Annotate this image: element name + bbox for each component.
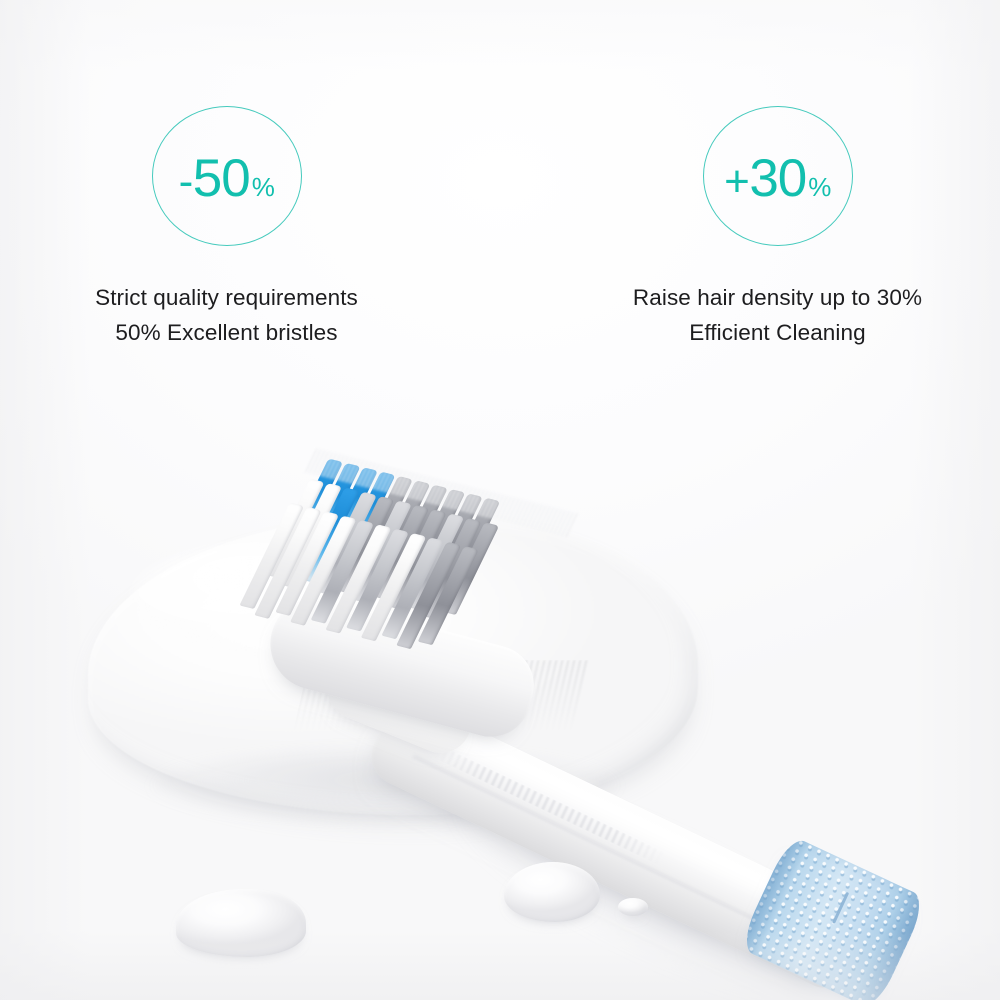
bristle-tuft <box>409 489 465 578</box>
stat-caption-hair-density: Raise hair density up to 30% Efficient C… <box>633 280 922 350</box>
bristle-tuft <box>278 483 342 588</box>
bristle-tuft <box>324 467 378 551</box>
handle-floor-shadow <box>427 742 904 1000</box>
bristle-tuft <box>302 463 360 557</box>
bristle-tuft <box>334 496 394 593</box>
bristle-tuft <box>300 487 359 583</box>
bristle-tuft <box>346 529 409 632</box>
bristle-tuft <box>404 513 464 609</box>
bristle-tuft <box>381 537 444 639</box>
stat-sign: - <box>179 160 193 204</box>
bristle-tuft <box>290 515 357 625</box>
handle-embossed-text <box>434 745 666 865</box>
handle-groove <box>411 755 831 959</box>
bristle-tuft <box>325 524 391 633</box>
bristle-tuft <box>314 492 377 595</box>
blue-textured-grip <box>738 835 928 1000</box>
bristle-tuft <box>275 511 339 616</box>
gel-puddle <box>88 515 698 815</box>
stat-percent-symbol: % <box>252 174 275 200</box>
bristle-tuft <box>254 507 321 619</box>
stat-ring-hair-density: + 30 % <box>703 106 853 246</box>
bristle-tuft <box>385 509 447 609</box>
gel-puddle-shadow <box>150 752 620 822</box>
bristle-tuft <box>396 542 461 649</box>
stat-badges: - 50 % Strict quality requirements 50% E… <box>0 0 1000 380</box>
bristle-tuft <box>263 479 324 578</box>
bristle-tuft <box>441 522 499 615</box>
bristle-tuft <box>338 472 395 563</box>
bristle-field <box>231 450 576 683</box>
caption-line-1: Strict quality requirements <box>95 280 358 315</box>
bristle-row-front <box>237 502 479 658</box>
brush-head-pad <box>260 588 543 746</box>
bristle-tuft <box>239 502 304 609</box>
bristle-tuft <box>349 500 412 602</box>
bristle-tuft <box>418 546 479 645</box>
grip-right-shading <box>852 888 928 1000</box>
water-droplet-small <box>618 898 648 916</box>
bristle-tuft <box>430 493 483 576</box>
bristle-tips-soft <box>303 448 579 538</box>
stat-number: 50 <box>193 152 250 205</box>
grip-center-mark <box>832 892 849 924</box>
caption-line-1: Raise hair density up to 30% <box>633 280 922 315</box>
bristle-tuft <box>361 533 427 641</box>
bristle-tuft <box>311 520 374 624</box>
stat-value-hair-density: + 30 % <box>724 152 831 205</box>
bristle-row-back <box>285 459 501 592</box>
product-feature-graphic: - 50 % Strict quality requirements 50% E… <box>0 0 1000 1000</box>
caption-line-2: 50% Excellent bristles <box>95 315 358 350</box>
stat-block-hair-density: + 30 % Raise hair density up to 30% Effi… <box>449 0 1000 380</box>
brush-handle <box>361 692 867 993</box>
stat-percent-symbol: % <box>808 174 831 200</box>
bristle-tuft <box>370 505 429 600</box>
bristle-tuft <box>445 498 500 585</box>
stat-sign: + <box>724 160 749 204</box>
bristle-row-middle <box>261 479 500 627</box>
stat-number: 30 <box>749 152 806 205</box>
bristle-tuft <box>373 480 431 572</box>
brush-neck <box>318 648 480 762</box>
water-droplet-medium <box>504 862 600 922</box>
gel-puddle-highlight <box>130 540 430 650</box>
grip-left-shading <box>738 835 810 957</box>
bristle-tuft <box>420 518 482 619</box>
caption-line-2: Efficient Cleaning <box>633 315 922 350</box>
bristle-tuft <box>287 459 343 547</box>
water-droplet-large <box>176 889 306 957</box>
bristle-tuft <box>358 476 413 562</box>
handle-highlight <box>392 704 851 938</box>
grip-dot-texture <box>738 835 928 1000</box>
stat-caption-strict-quality: Strict quality requirements 50% Excellen… <box>95 280 358 350</box>
bristle-tuft <box>394 485 448 569</box>
stat-ring-strict-quality: - 50 % <box>152 106 302 246</box>
bristle-reflection <box>291 660 590 742</box>
stat-value-strict-quality: - 50 % <box>179 152 275 205</box>
stat-block-strict-quality: - 50 % Strict quality requirements 50% E… <box>0 0 449 380</box>
